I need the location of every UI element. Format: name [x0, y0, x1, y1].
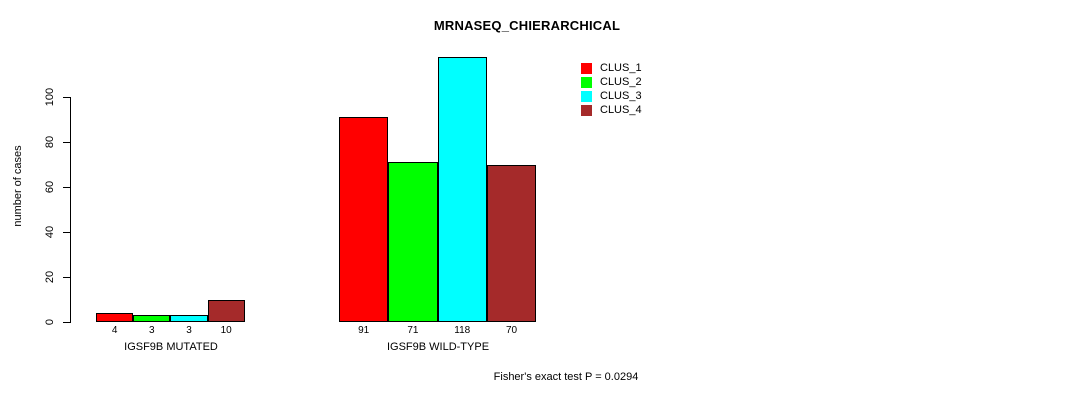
chart-title-text: MRNASEQ_CHIERARCHICAL [434, 18, 620, 33]
y-axis-tick-label: 20 [40, 271, 60, 283]
y-axis-tick-label: 100 [40, 91, 60, 103]
bar-wildtype-clus_2 [388, 162, 437, 322]
footer-annotation: Fisher's exact test P = 0.0294 [0, 371, 1090, 383]
bar-wildtype-clus_3 [438, 57, 487, 323]
legend-swatch-icon [581, 91, 592, 102]
legend-swatch-icon [581, 63, 592, 74]
legend-item-label: CLUS_1 [600, 61, 642, 75]
bar-value-label: 118 [438, 325, 487, 336]
bar-mutated-clus_2 [133, 315, 170, 322]
bar-mutated-clus_1 [96, 313, 133, 322]
bar-chart-figure: MRNASEQ_CHIERARCHICAL 020406080100 numbe… [0, 0, 1090, 400]
y-axis-tick [63, 232, 70, 233]
group-label-mutated: IGSF9B MUTATED [96, 341, 246, 353]
bar-wildtype-clus_4 [487, 165, 536, 323]
legend-item-label: CLUS_3 [600, 89, 642, 103]
y-axis-tick [63, 97, 70, 98]
footer-annotation-text: Fisher's exact test P = 0.0294 [494, 371, 639, 383]
chart-title: MRNASEQ_CHIERARCHICAL [0, 18, 1090, 33]
y-axis-tick [63, 322, 70, 323]
y-axis-tick [63, 187, 70, 188]
y-axis-title: number of cases [12, 136, 24, 236]
legend-item-label: CLUS_4 [600, 103, 642, 117]
bar-value-label: 3 [133, 325, 170, 336]
bar-value-label: 91 [339, 325, 388, 336]
legend-item-label: CLUS_2 [600, 75, 642, 89]
bar-value-label: 70 [487, 325, 536, 336]
y-axis-tick-label-text: 80 [44, 132, 56, 152]
bar-mutated-clus_4 [208, 300, 245, 323]
y-axis-tick-label-text: 20 [44, 267, 56, 287]
y-axis-line [70, 97, 71, 323]
bar-mutated-clus_3 [170, 315, 207, 322]
y-axis-tick [63, 277, 70, 278]
bar-value-label: 10 [208, 325, 245, 336]
bar-value-label: 4 [96, 325, 133, 336]
bar-value-label: 3 [170, 325, 207, 336]
y-axis-tick-label: 40 [40, 226, 60, 238]
bar-value-label: 71 [388, 325, 437, 336]
y-axis-tick-label-text: 0 [44, 312, 56, 332]
bar-wildtype-clus_1 [339, 117, 388, 322]
y-axis-tick-label-text: 40 [44, 222, 56, 242]
legend-swatch-icon [581, 105, 592, 116]
y-axis-tick-label-text: 100 [44, 87, 56, 107]
y-axis-tick-label: 80 [40, 136, 60, 148]
y-axis-tick-label: 60 [40, 181, 60, 193]
group-label-wildtype: IGSF9B WILD-TYPE [339, 341, 537, 353]
y-axis-tick-label: 0 [40, 316, 60, 328]
legend-swatch-icon [581, 77, 592, 88]
y-axis-tick [63, 142, 70, 143]
y-axis-tick-label-text: 60 [44, 177, 56, 197]
